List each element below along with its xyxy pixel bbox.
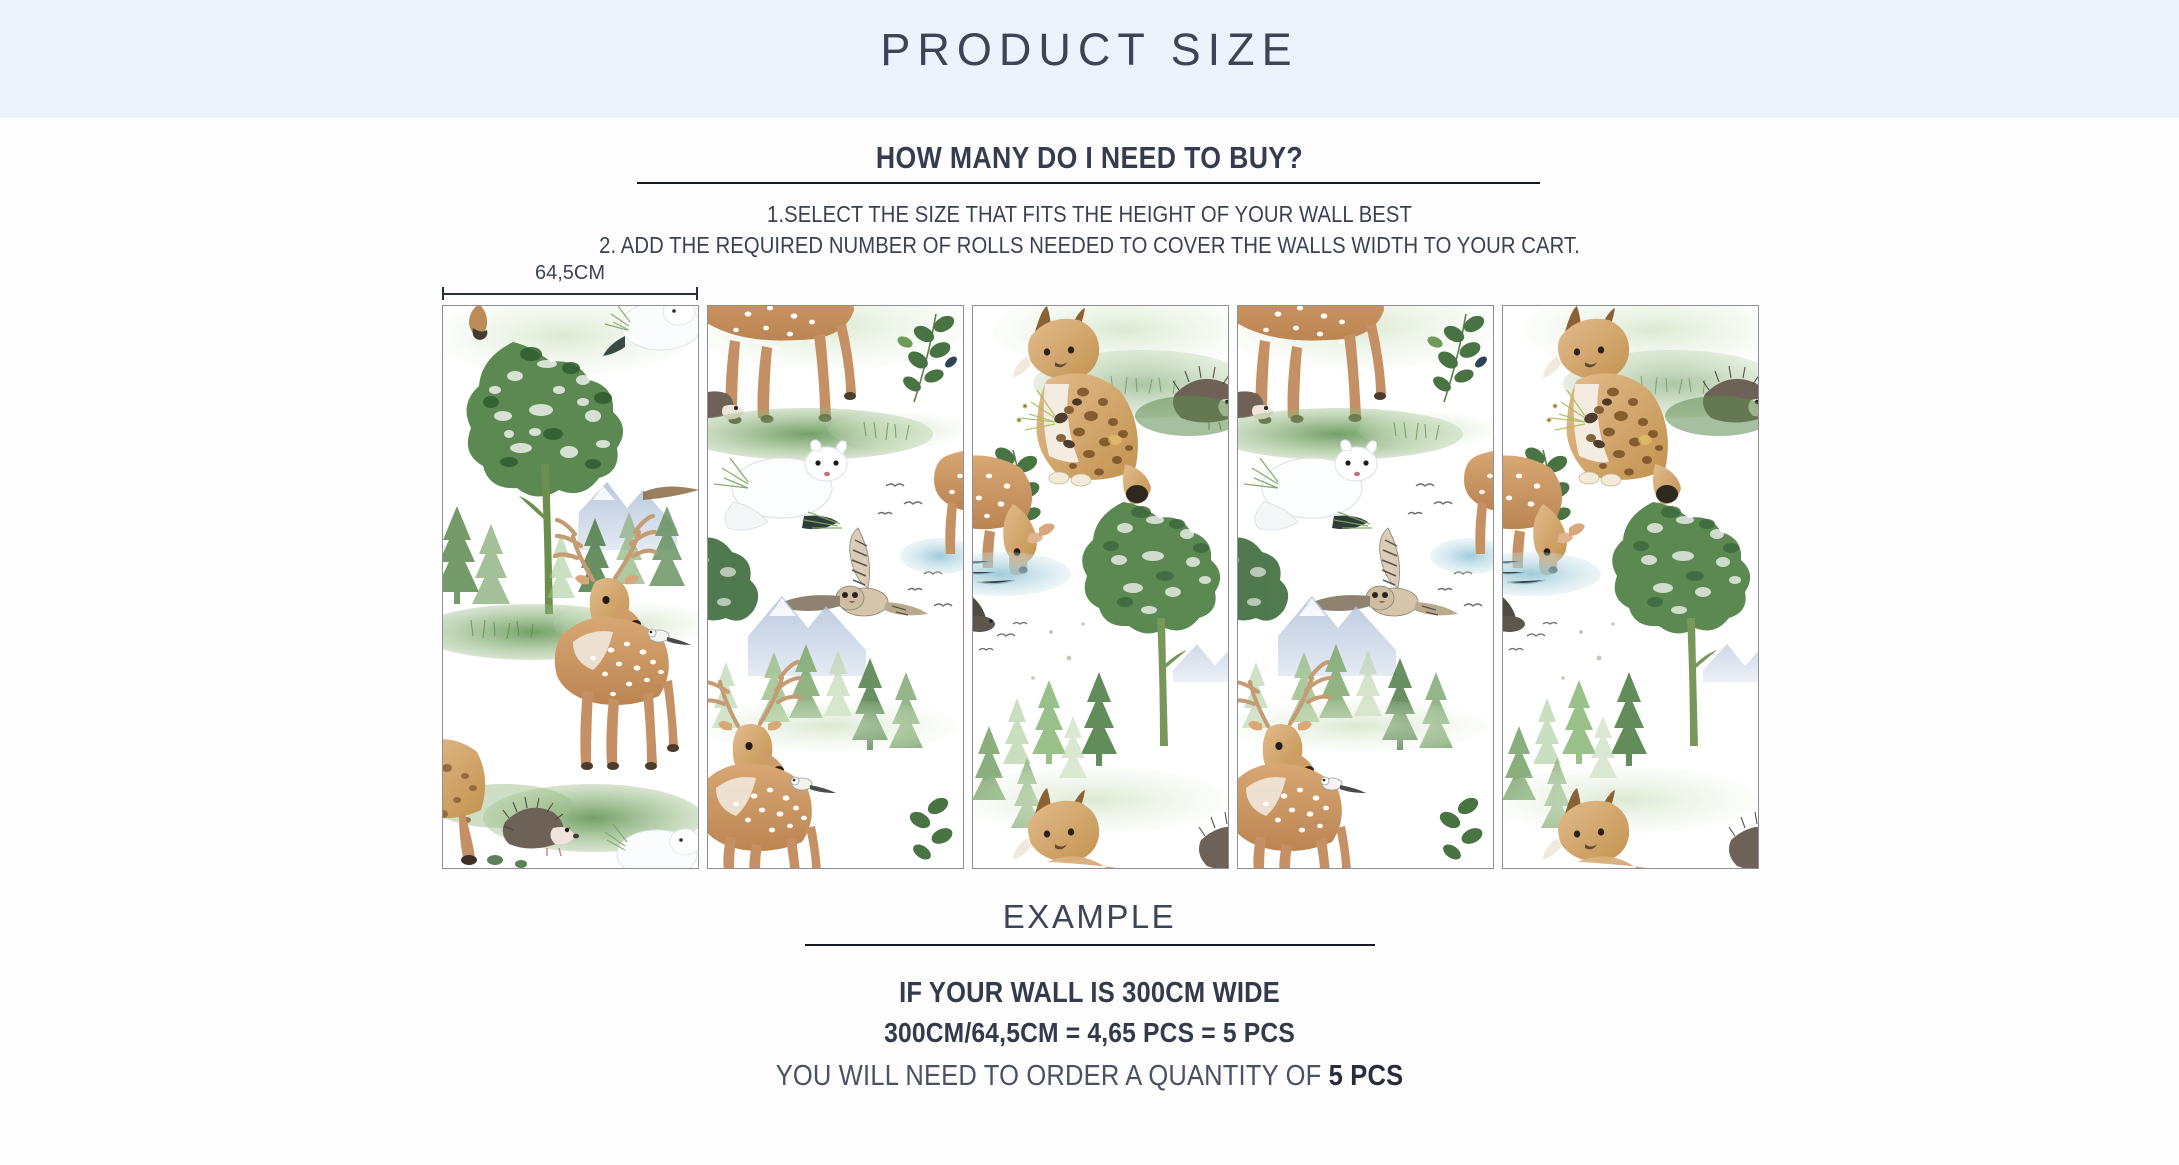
wallpaper-art-5 [1503,306,1758,868]
header-band: PRODUCT SIZE [0,0,2179,118]
wallpaper-panel-5[interactable] [1502,305,1759,869]
wallpaper-art-1 [443,306,698,868]
example-divider [805,944,1375,946]
dimension-line [442,293,698,295]
example-wall-width: IF YOUR WALL IS 300CM WIDE [131,977,2049,1010]
wallpaper-panel-2[interactable] [707,305,964,869]
wallpaper-art-3 [973,306,1228,868]
page-title: PRODUCT SIZE [0,24,2179,76]
product-size-page: PRODUCT SIZE HOW MANY DO I NEED TO BUY? … [0,0,2179,1165]
heading-divider [637,182,1540,184]
roll-width-label: 64,5CM [442,262,698,285]
wallpaper-panel-1[interactable] [442,305,699,869]
example-calculation: 300CM/64,5CM = 4,65 PCS = 5 PCS [131,1017,2049,1049]
dimension-tick-left [442,287,444,300]
order-quantity-value: 5 PCS [1329,1060,1404,1092]
wallpaper-art-2 [708,306,963,868]
instruction-step-1: 1.SELECT THE SIZE THAT FITS THE HEIGHT O… [131,201,2049,228]
wallpaper-panel-strip [442,305,1738,869]
dimension-tick-right [696,287,698,300]
instruction-step-2: 2. ADD THE REQUIRED NUMBER OF ROLLS NEED… [131,232,2049,259]
wallpaper-panel-4[interactable] [1237,305,1494,869]
how-many-heading: HOW MANY DO I NEED TO BUY? [153,140,2027,176]
order-prefix-text: YOU WILL NEED TO ORDER A QUANTITY OF [776,1060,1329,1092]
example-order-quantity: YOU WILL NEED TO ORDER A QUANTITY OF 5 P… [131,1060,2049,1093]
wallpaper-art-4 [1238,306,1493,868]
wallpaper-panel-3[interactable] [972,305,1229,869]
example-heading: EXAMPLE [0,898,2179,936]
